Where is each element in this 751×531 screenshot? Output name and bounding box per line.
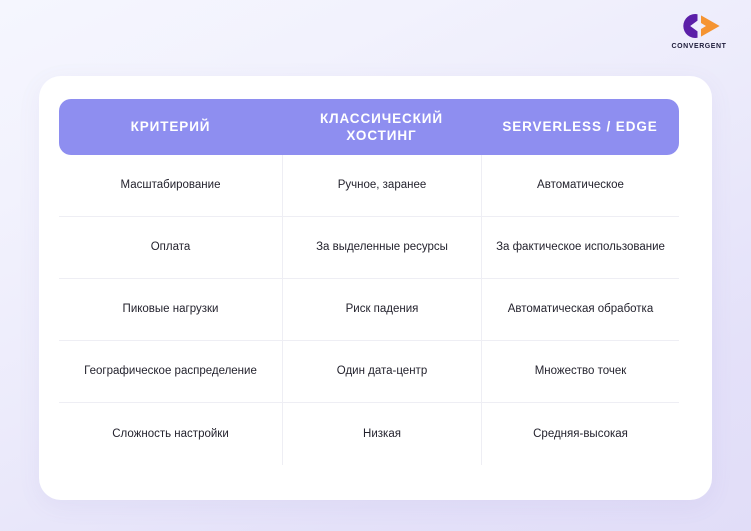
cell-criterion: Географическое распределение <box>59 341 282 402</box>
table-row: Сложность настройки Низкая Средняя-высок… <box>59 403 679 465</box>
brand-wordmark: CONVERGENT <box>672 43 727 50</box>
cell-classic: За выделенные ресурсы <box>282 217 481 278</box>
cell-criterion: Масштабирование <box>59 155 282 216</box>
cell-classic: Один дата-центр <box>282 341 481 402</box>
column-header-classic-hosting: КЛАССИЧЕСКИЙ ХОСТИНГ <box>282 99 481 155</box>
comparison-card: КРИТЕРИЙ КЛАССИЧЕСКИЙ ХОСТИНГ SERVERLESS… <box>39 76 712 500</box>
comparison-table: КРИТЕРИЙ КЛАССИЧЕСКИЙ ХОСТИНГ SERVERLESS… <box>59 99 679 465</box>
cell-criterion: Сложность настройки <box>59 403 282 465</box>
brand-logo: CONVERGENT <box>663 12 735 50</box>
cell-classic: Риск падения <box>282 279 481 340</box>
column-header-criterion: КРИТЕРИЙ <box>59 99 282 155</box>
table-row: Пиковые нагрузки Риск падения Автоматиче… <box>59 279 679 341</box>
cell-classic: Низкая <box>282 403 481 465</box>
column-header-serverless-edge: SERVERLESS / EDGE <box>481 99 679 155</box>
cell-serverless: Множество точек <box>481 341 679 402</box>
table-row: Географическое распределение Один дата-ц… <box>59 341 679 403</box>
convergent-logo-icon <box>674 12 724 40</box>
table-body: Масштабирование Ручное, заранее Автомати… <box>59 155 679 465</box>
table-row: Оплата За выделенные ресурсы За фактичес… <box>59 217 679 279</box>
table-header-row: КРИТЕРИЙ КЛАССИЧЕСКИЙ ХОСТИНГ SERVERLESS… <box>59 99 679 155</box>
cell-serverless: Автоматическое <box>481 155 679 216</box>
cell-criterion: Оплата <box>59 217 282 278</box>
cell-serverless: За фактическое использование <box>481 217 679 278</box>
table-row: Масштабирование Ручное, заранее Автомати… <box>59 155 679 217</box>
cell-classic: Ручное, заранее <box>282 155 481 216</box>
cell-serverless: Средняя-высокая <box>481 403 679 465</box>
cell-serverless: Автоматическая обработка <box>481 279 679 340</box>
cell-criterion: Пиковые нагрузки <box>59 279 282 340</box>
